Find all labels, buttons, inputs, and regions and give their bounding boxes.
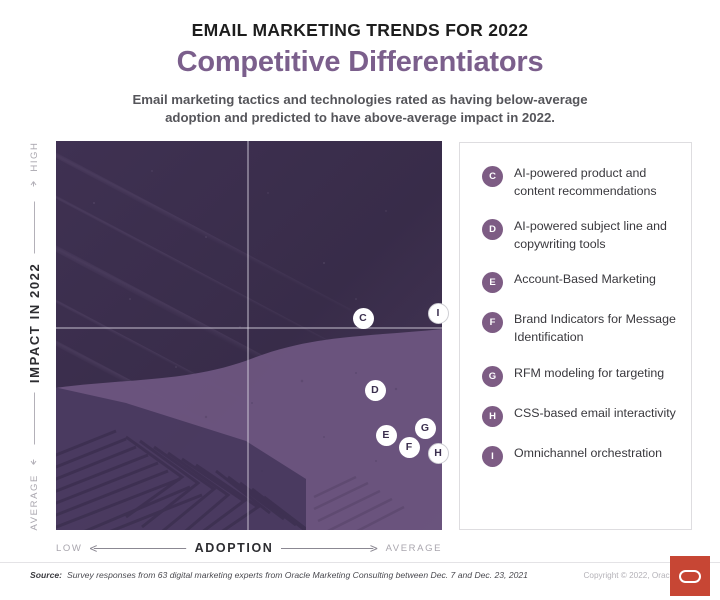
infographic-page: EMAIL MARKETING TRENDS FOR 2022 Competit… — [0, 0, 720, 600]
data-point-f-label: F — [406, 441, 413, 453]
x-axis-low-label: LOW — [56, 543, 82, 554]
legend-badge-d: D — [482, 219, 503, 240]
legend-label-g: RFM modeling for targeting — [514, 365, 664, 383]
legend-item-g[interactable]: G RFM modeling for targeting — [482, 365, 677, 387]
plot-background-artwork — [56, 141, 442, 530]
legend-badge-f: F — [482, 312, 503, 333]
x-axis-arrow-left-icon — [90, 544, 186, 553]
data-point-d-label: D — [371, 384, 379, 396]
data-point-h[interactable]: H — [428, 443, 449, 464]
y-axis-rule-right — [34, 201, 35, 253]
header: EMAIL MARKETING TRENDS FOR 2022 Competit… — [0, 0, 720, 127]
kicker-title: EMAIL MARKETING TRENDS FOR 2022 — [0, 20, 720, 41]
legend-label-c: AI-powered product and content recommend… — [514, 165, 677, 200]
legend-badge-h: H — [482, 406, 503, 427]
footer: Source: Survey responses from 63 digital… — [30, 570, 690, 580]
subtitle-description: Email marketing tactics and technologies… — [110, 91, 610, 127]
source-label: Source: — [30, 570, 62, 580]
legend-label-i: Omnichannel orchestration — [514, 445, 662, 463]
page-title: Competitive Differentiators — [0, 46, 720, 79]
quadrant-vertical-line — [247, 141, 249, 530]
data-point-e[interactable]: E — [376, 425, 397, 446]
legend-badge-i: I — [482, 446, 503, 467]
y-axis-arrow-left-icon — [25, 453, 43, 465]
data-point-e-label: E — [382, 429, 389, 441]
oracle-o-shape — [679, 570, 701, 583]
data-point-c[interactable]: C — [353, 308, 374, 329]
data-point-g[interactable]: G — [415, 418, 436, 439]
legend-item-d[interactable]: D AI-powered subject line and copywritin… — [482, 218, 677, 253]
quadrant-horizontal-line — [56, 327, 442, 329]
legend-label-e: Account-Based Marketing — [514, 271, 656, 289]
y-axis-title: IMPACT IN 2022 — [27, 262, 42, 382]
legend-item-c[interactable]: C AI-powered product and content recomme… — [482, 165, 677, 200]
data-point-i[interactable]: I — [428, 303, 449, 324]
footer-divider — [0, 562, 720, 563]
x-axis-arrow-right-icon — [281, 544, 377, 553]
legend-item-f[interactable]: F Brand Indicators for Message Identific… — [482, 311, 677, 346]
data-point-h-label: H — [434, 447, 442, 459]
scatter-plot-panel: C D E F G — [56, 141, 442, 530]
legend-label-h: CSS-based email interactivity — [514, 405, 676, 423]
legend-item-h[interactable]: H CSS-based email interactivity — [482, 405, 677, 427]
data-point-d[interactable]: D — [365, 380, 386, 401]
x-axis: LOW ADOPTION AVERAGE — [56, 538, 442, 558]
oracle-logo-icon — [670, 556, 710, 596]
legend-badge-c: C — [482, 166, 503, 187]
legend-panel: C AI-powered product and content recomme… — [459, 142, 692, 530]
y-axis-high-label: HIGH — [29, 141, 40, 171]
legend-label-f: Brand Indicators for Message Identificat… — [514, 311, 677, 346]
y-axis-low-label: AVERAGE — [29, 474, 40, 530]
y-axis-rule-left — [34, 392, 35, 444]
y-axis-arrow-right-icon — [25, 180, 43, 192]
y-axis: AVERAGE IMPACT IN 2022 HIGH — [14, 141, 54, 530]
source-text: Survey responses from 63 digital marketi… — [67, 570, 528, 580]
legend-label-d: AI-powered subject line and copywriting … — [514, 218, 677, 253]
data-point-c-label: C — [359, 312, 367, 324]
data-point-g-label: G — [421, 422, 429, 434]
data-point-f[interactable]: F — [399, 437, 420, 458]
x-axis-title: ADOPTION — [195, 541, 274, 555]
legend-item-i[interactable]: I Omnichannel orchestration — [482, 445, 677, 467]
legend-item-e[interactable]: E Account-Based Marketing — [482, 271, 677, 293]
data-point-i-label: I — [437, 307, 440, 319]
legend-badge-e: E — [482, 272, 503, 293]
legend-badge-g: G — [482, 366, 503, 387]
x-axis-high-label: AVERAGE — [386, 543, 442, 554]
